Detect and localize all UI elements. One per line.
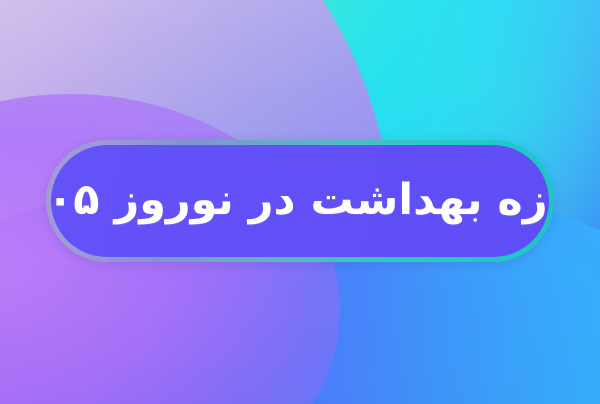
pill-fill: حوزه بهداشت در نوروز ۱۴۰۵ <box>51 145 549 257</box>
headline-pill-button[interactable]: حوزه بهداشت در نوروز ۱۴۰۵ <box>46 140 554 262</box>
headline-text: حوزه بهداشت در نوروز ۱۴۰۵ <box>51 179 549 222</box>
banner-canvas: حوزه بهداشت در نوروز ۱۴۰۵ <box>0 0 600 404</box>
